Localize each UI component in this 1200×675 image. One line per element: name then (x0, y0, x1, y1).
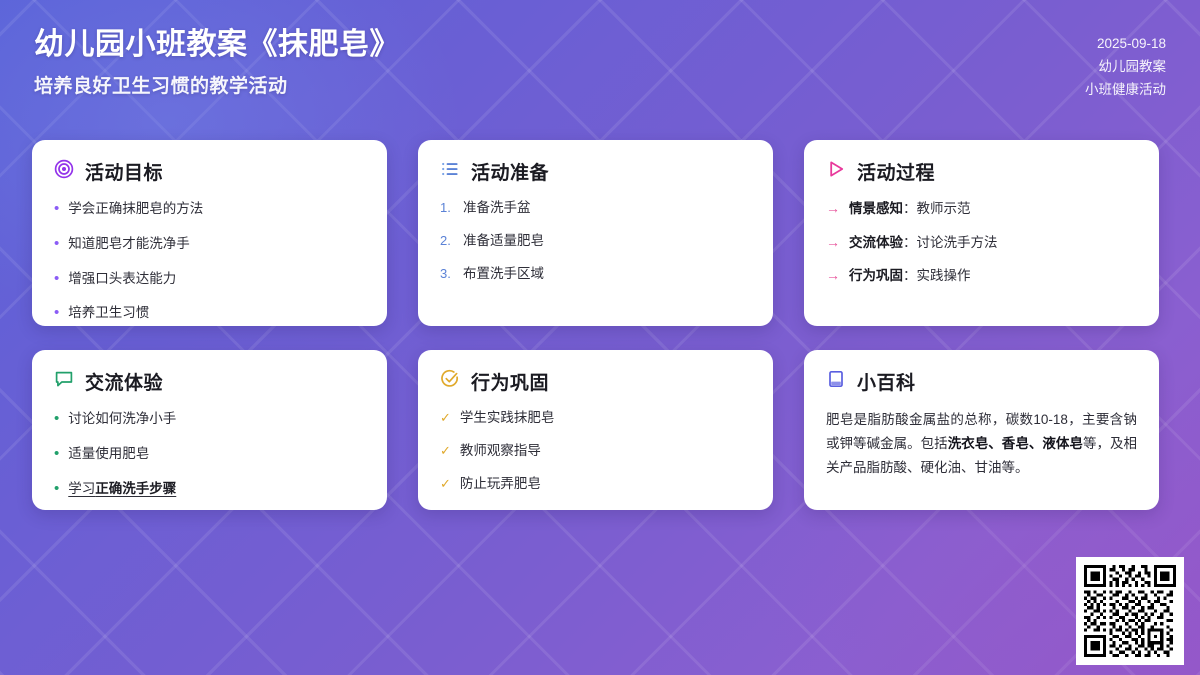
list-item: • 适量使用肥皂 (54, 443, 365, 465)
card-header: 小百科 (826, 368, 1137, 395)
objectives-list: • 学会正确抹肥皂的方法 • 知道肥皂才能洗净手 • 增强口头表达能力 • 培养… (54, 198, 365, 324)
meta-date: 2025-09-18 (1085, 32, 1166, 55)
card-reinforcement[interactable]: 行为巩固 ✓ 学生实践抹肥皂 ✓ 教师观察指导 ✓ 防止玩弄肥皂 (418, 350, 773, 510)
page-title: 幼儿园小班教案《抹肥皂》 (34, 26, 1085, 64)
process-label: 交流体验 (849, 235, 903, 250)
slide-page: 幼儿园小班教案《抹肥皂》 培养良好卫生习惯的教学活动 2025-09-18 幼儿… (0, 0, 1200, 675)
list-item-label: 布置洗手区域 (463, 264, 544, 284)
list-item-label: 防止玩弄肥皂 (460, 474, 541, 494)
reinforcement-list: ✓ 学生实践抹肥皂 ✓ 教师观察指导 ✓ 防止玩弄肥皂 (440, 408, 751, 494)
paragraph-bold-terms: 洗衣皂、香皂、液体皂 (948, 436, 1083, 451)
bullet-icon: • (54, 268, 59, 290)
qr-code-image (1084, 565, 1176, 657)
list-item-label: 讨论如何洗净小手 (68, 409, 176, 429)
check-icon: ✓ (440, 409, 451, 428)
process-label: 情景感知 (849, 201, 903, 216)
check-icon: ✓ (440, 475, 451, 494)
list-item-label: 教师观察指导 (460, 441, 541, 461)
card-header: 活动过程 (826, 158, 1137, 185)
item-emphasis: 正确洗手步骤 (95, 481, 176, 496)
list-item-label: 准备适量肥皂 (463, 231, 544, 251)
list-item-label: 准备洗手盆 (463, 198, 531, 218)
list-item-label: 学会正确抹肥皂的方法 (68, 199, 203, 219)
card-header: 活动准备 (440, 158, 751, 185)
list-item: • 增强口头表达能力 (54, 268, 365, 290)
bullet-icon: • (54, 408, 59, 430)
list-item: • 讨论如何洗净小手 (54, 408, 365, 430)
meta-topic: 小班健康活动 (1085, 78, 1166, 101)
list-number: 2. (440, 232, 454, 251)
card-header: 交流体验 (54, 368, 365, 395)
process-separator: ： (903, 201, 917, 216)
speech-bubble-icon (54, 369, 74, 394)
card-title: 活动准备 (471, 158, 549, 185)
bullet-icon: • (54, 302, 59, 324)
list-item-label: 情景感知：教师示范 (849, 199, 971, 219)
check-circle-icon (440, 369, 460, 394)
bullet-icon: • (54, 198, 59, 220)
list-item: • 培养卫生习惯 (54, 302, 365, 324)
card-title: 行为巩固 (471, 368, 549, 395)
card-title: 交流体验 (85, 368, 163, 395)
list-item: 1. 准备洗手盆 (440, 198, 751, 218)
page-header: 幼儿园小班教案《抹肥皂》 培养良好卫生习惯的教学活动 2025-09-18 幼儿… (0, 0, 1200, 102)
list-item: • 学习正确洗手步骤 (54, 478, 365, 500)
encyclopedia-paragraph: 肥皂是脂肪酸金属盐的总称，碳数10-18，主要含钠或钾等碱金属。包括洗衣皂、香皂… (826, 408, 1137, 480)
list-item-label[interactable]: 学习正确洗手步骤 (68, 479, 176, 499)
list-item-label: 适量使用肥皂 (68, 444, 149, 464)
card-preparation[interactable]: 活动准备 1. 准备洗手盆 2. 准备适量肥皂 3. 布置洗手区域 (418, 140, 773, 326)
list-item-label: 增强口头表达能力 (68, 269, 176, 289)
meta-category: 幼儿园教案 (1085, 55, 1166, 78)
process-list: → 情景感知：教师示范 → 交流体验：讨论洗手方法 → 行为巩固：实践操作 (826, 198, 1137, 286)
card-header: 行为巩固 (440, 368, 751, 395)
list-item-label: 知道肥皂才能洗净手 (68, 234, 190, 254)
process-label: 行为巩固 (849, 268, 903, 283)
list-number: 1. (440, 199, 454, 218)
discussion-list: • 讨论如何洗净小手 • 适量使用肥皂 • 学习正确洗手步骤 (54, 408, 365, 499)
bullet-icon: • (54, 233, 59, 255)
check-icon: ✓ (440, 442, 451, 461)
process-detail: 讨论洗手方法 (917, 235, 998, 250)
bullet-icon: • (54, 478, 59, 500)
target-icon (54, 159, 74, 184)
list-item: • 知道肥皂才能洗净手 (54, 233, 365, 255)
bullet-icon: • (54, 443, 59, 465)
title-block: 幼儿园小班教案《抹肥皂》 培养良好卫生习惯的教学活动 (34, 26, 1085, 98)
process-detail: 教师示范 (917, 201, 971, 216)
list-item-label: 学生实践抹肥皂 (460, 408, 555, 428)
arrow-icon: → (826, 265, 840, 285)
header-meta: 2025-09-18 幼儿园教案 小班健康活动 (1085, 26, 1166, 102)
item-prefix: 学习 (68, 481, 95, 496)
list-item: ✓ 教师观察指导 (440, 441, 751, 461)
process-detail: 实践操作 (917, 268, 971, 283)
list-number: 3. (440, 265, 454, 284)
arrow-icon: → (826, 232, 840, 252)
card-title: 小百科 (857, 368, 916, 395)
preparation-list: 1. 准备洗手盆 2. 准备适量肥皂 3. 布置洗手区域 (440, 198, 751, 284)
card-title: 活动目标 (85, 158, 163, 185)
list-item: 2. 准备适量肥皂 (440, 231, 751, 251)
page-subtitle: 培养良好卫生习惯的教学活动 (34, 71, 1085, 98)
book-icon (826, 369, 846, 394)
list-item: → 行为巩固：实践操作 (826, 265, 1137, 286)
list-item: ✓ 学生实践抹肥皂 (440, 408, 751, 428)
list-item: ✓ 防止玩弄肥皂 (440, 474, 751, 494)
card-encyclopedia[interactable]: 小百科 肥皂是脂肪酸金属盐的总称，碳数10-18，主要含钠或钾等碱金属。包括洗衣… (804, 350, 1159, 510)
process-separator: ： (903, 235, 917, 250)
list-item-label: 行为巩固：实践操作 (849, 266, 971, 286)
list-item: → 情景感知：教师示范 (826, 198, 1137, 219)
list-item-label: 培养卫生习惯 (68, 303, 149, 323)
qr-code[interactable] (1076, 557, 1184, 665)
process-separator: ： (903, 268, 917, 283)
list-item: 3. 布置洗手区域 (440, 264, 751, 284)
list-icon (440, 159, 460, 184)
card-header: 活动目标 (54, 158, 365, 185)
card-title: 活动过程 (857, 158, 935, 185)
card-objectives[interactable]: 活动目标 • 学会正确抹肥皂的方法 • 知道肥皂才能洗净手 • 增强口头表达能力… (32, 140, 387, 326)
list-item: → 交流体验：讨论洗手方法 (826, 232, 1137, 253)
card-process[interactable]: 活动过程 → 情景感知：教师示范 → 交流体验：讨论洗手方法 → 行为巩固：实践… (804, 140, 1159, 326)
arrow-icon: → (826, 198, 840, 218)
play-triangle-icon (826, 159, 846, 184)
card-discussion[interactable]: 交流体验 • 讨论如何洗净小手 • 适量使用肥皂 • 学习正确洗手步骤 (32, 350, 387, 510)
card-grid: 活动目标 • 学会正确抹肥皂的方法 • 知道肥皂才能洗净手 • 增强口头表达能力… (32, 140, 1168, 510)
list-item-label: 交流体验：讨论洗手方法 (849, 233, 998, 253)
list-item: • 学会正确抹肥皂的方法 (54, 198, 365, 220)
